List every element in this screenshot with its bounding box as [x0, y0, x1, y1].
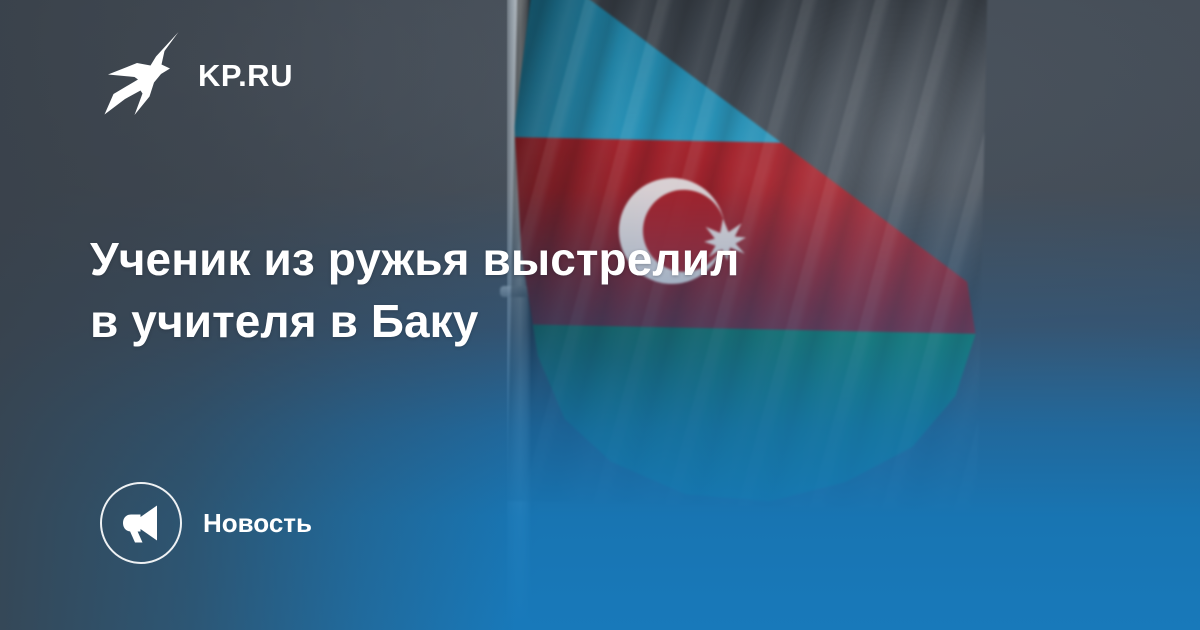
page-title: Ученик из ружья выстрелил в учителя в Ба…: [90, 228, 920, 352]
swallow-bird-icon: [104, 30, 182, 116]
megaphone-icon: [120, 502, 162, 544]
badge-icon-circle: [100, 482, 182, 564]
social-share-card: KP.RU Ученик из ружья выстрелил в учител…: [0, 0, 1200, 630]
status-badge[interactable]: Новость: [100, 482, 312, 564]
brand-logo-lockup[interactable]: KP.RU: [104, 30, 293, 116]
brand-name: KP.RU: [198, 56, 293, 91]
card-content: KP.RU Ученик из ружья выстрелил в учител…: [0, 0, 1200, 630]
badge-label: Новость: [203, 510, 312, 536]
